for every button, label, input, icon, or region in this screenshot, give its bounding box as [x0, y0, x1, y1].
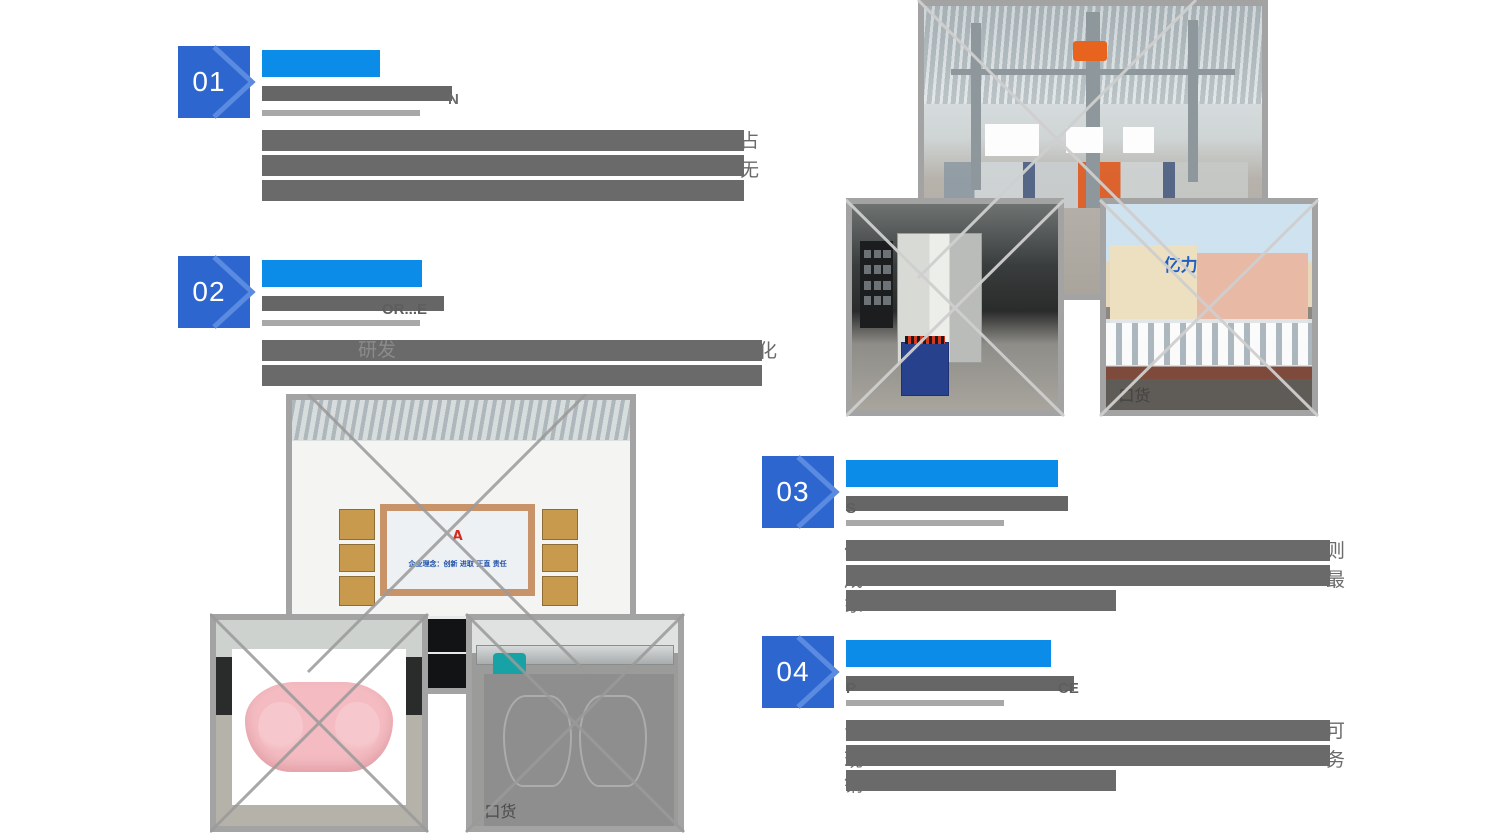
office-ceiling — [292, 400, 630, 440]
photo-cnc-machine — [846, 198, 1064, 416]
feature-body-peek: 公 — [844, 721, 863, 742]
wall-window — [1066, 127, 1103, 153]
feature-subtitle-head-03: S — [846, 501, 856, 516]
photo-fabric-cutting: 口货 — [466, 614, 684, 832]
feature-body-peek: 优 — [844, 541, 863, 562]
feature-number-01: 01 — [186, 68, 232, 96]
feature-subtitle-tail-04: CE — [1058, 681, 1079, 696]
feature-body-line — [846, 565, 1330, 586]
feature-title-redaction-03 — [846, 460, 1058, 487]
feature-body-line — [262, 180, 744, 201]
feature-subtitle-head-04: P — [846, 681, 856, 696]
feature-subtitle-tail-01: N — [448, 92, 459, 107]
cnc-control-panel — [860, 241, 893, 328]
feature-body-line — [262, 340, 762, 361]
feature-title-redaction-02 — [262, 260, 422, 287]
feature-body-peek: 化 — [758, 341, 777, 362]
feature-badge-04: 04 — [762, 636, 834, 708]
feature-rule-02 — [262, 320, 420, 326]
wall-window — [985, 124, 1039, 156]
photo-fabric-cutting-content: 口货 — [472, 620, 678, 826]
feature-body-03: 优 则 成 最 象 — [846, 540, 1386, 611]
feature-body-peek: 可 — [1326, 721, 1345, 742]
feature-number-04: 04 — [770, 658, 816, 686]
feature-body-line — [846, 745, 1330, 766]
award-plaque — [339, 576, 375, 607]
wall-window — [1123, 127, 1153, 153]
photo-cnc-machine-content — [852, 204, 1058, 410]
award-plaque — [339, 509, 375, 540]
feature-body-peek: 无 — [740, 160, 759, 181]
feature-body-peek: 象 — [844, 595, 863, 616]
feature-body-peek: 最 — [1326, 570, 1345, 591]
feature-body-peek: 现 — [844, 750, 863, 771]
feature-textgroup-04: P CE — [846, 636, 1386, 706]
photo-building-cargo: 亿力 口货 — [1100, 198, 1318, 416]
feature-body-line — [262, 365, 762, 386]
feature-body-peek: 成 — [844, 570, 863, 591]
feature-subtitle-redaction-03 — [846, 496, 1068, 511]
feature-rule-04 — [846, 700, 1004, 706]
award-plaque — [542, 576, 578, 607]
honor-board: A 企业理念：创新 进取 正直 责任 — [380, 504, 535, 596]
feature-body-line — [262, 155, 744, 176]
feature-textgroup-03: S — [846, 456, 1386, 526]
feature-body-inner-peek: 研发 — [358, 340, 396, 361]
feature-body-01: 占 无 — [262, 130, 802, 201]
company-motto-text: 企业理念：创新 进取 正直 责任 — [408, 559, 506, 569]
feature-subtitle-redaction-01 — [262, 86, 452, 101]
feature-number-03: 03 — [770, 478, 816, 506]
feature-body-04: 公 可 现 务 销 — [846, 720, 1386, 791]
feature-body-line — [846, 590, 1116, 611]
feature-textgroup-02: OR...E — [262, 256, 802, 326]
feature-title-redaction-01 — [262, 50, 380, 77]
feature-body-peek: 占 — [740, 131, 759, 152]
feature-body-line — [846, 770, 1116, 791]
roof-beam — [951, 69, 1235, 75]
feature-badge-03: 03 — [762, 456, 834, 528]
feature-title-redaction-04 — [846, 640, 1051, 667]
feature-rule-01 — [262, 110, 420, 116]
photo-watermark-text: 口货 — [484, 798, 516, 822]
feature-textgroup-01: N — [262, 46, 802, 116]
feature-body-line — [262, 130, 744, 151]
award-plaque — [542, 509, 578, 540]
roof-beam — [1188, 20, 1198, 181]
feature-subtitle-redaction-04 — [846, 676, 1074, 691]
feature-badge-01: 01 — [178, 46, 250, 118]
building-sign-text: 亿力 — [1164, 258, 1198, 275]
photo-pink-bra — [210, 614, 428, 832]
photo-pink-bra-content — [216, 620, 422, 826]
feature-rule-03 — [846, 520, 1004, 526]
feature-body-line — [846, 540, 1330, 561]
award-plaque — [339, 544, 375, 572]
photo-building-cargo-content: 亿力 口货 — [1106, 204, 1312, 410]
award-plaque — [542, 544, 578, 572]
feature-badge-02: 02 — [178, 256, 250, 328]
roof-beam — [971, 23, 981, 190]
feature-number-02: 02 — [186, 278, 232, 306]
pink-bra-product — [245, 682, 393, 773]
feature-body-peek: 务 — [1326, 750, 1345, 771]
tool-cart — [901, 342, 948, 396]
feature-body-line — [846, 720, 1330, 741]
feature-body-peek: 则 — [1326, 541, 1345, 562]
photo-watermark-text: 口货 — [1118, 382, 1150, 406]
feature-body-02: 研发 化 — [262, 340, 802, 386]
company-logo-text: A — [453, 529, 463, 544]
crane-hoist — [1073, 41, 1107, 61]
feature-body-peek: 销 — [844, 775, 863, 796]
feature-subtitle-tail-02: OR...E — [382, 302, 427, 317]
